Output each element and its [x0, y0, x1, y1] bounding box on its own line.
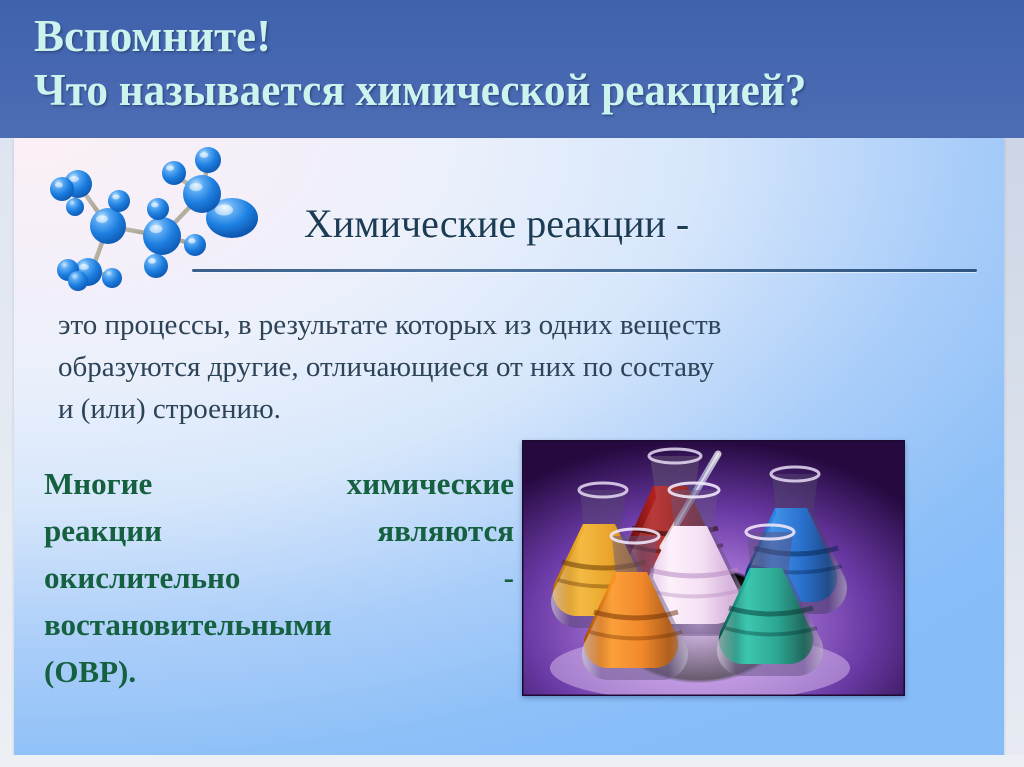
- ovr-statement-word-vostanovitelnymi: востановительными: [44, 601, 332, 648]
- ovr-statement-abbreviation: (ОВР).: [44, 648, 136, 695]
- ovr-statement-word-reakcii: реакции: [44, 507, 162, 554]
- ovr-statement-line-5: (ОВР).: [44, 648, 514, 695]
- ovr-statement-line-3: окислительно -: [44, 554, 514, 601]
- ovr-statement-line-1: Многие химические: [44, 460, 514, 507]
- slide-title-block: Вспомните! Что называется химической реа…: [0, 0, 1024, 136]
- ovr-statement-word-yavlyayutsya: являются: [377, 507, 514, 554]
- bottom-strip: [0, 755, 1024, 767]
- chemistry-flasks-photo: [522, 440, 905, 696]
- ovr-statement: Многие химические реакции являются окисл…: [44, 460, 514, 695]
- definition-paragraph: это процессы, в результате которых из од…: [58, 304, 968, 430]
- slide-title-line-1: Вспомните!: [34, 12, 271, 60]
- slide-title-line-2: Что называется химической реакцией?: [34, 66, 806, 114]
- left-margin-strip: [0, 138, 14, 767]
- presentation-slide: Вспомните! Что называется химической реа…: [0, 0, 1024, 767]
- definition-line-2: образуются другие, отличающиеся от них п…: [58, 346, 968, 388]
- definition-line-3: и (или) строению.: [58, 388, 968, 430]
- right-margin-strip: [1004, 138, 1024, 767]
- heading-divider: [192, 269, 977, 272]
- ovr-statement-word-okislitelno: окислительно: [44, 554, 240, 601]
- ovr-statement-word-mnogie: Многие: [44, 460, 152, 507]
- definition-line-1: это процессы, в результате которых из од…: [58, 304, 968, 346]
- ovr-statement-word-himicheskie: химические: [347, 460, 514, 507]
- ovr-statement-line-2: реакции являются: [44, 507, 514, 554]
- content-panel: Химические реакции - это процессы, в рез…: [14, 138, 1004, 755]
- ovr-statement-line-4: востановительными: [44, 601, 514, 648]
- ovr-statement-dash: -: [504, 554, 514, 601]
- section-heading: Химические реакции -: [304, 200, 689, 247]
